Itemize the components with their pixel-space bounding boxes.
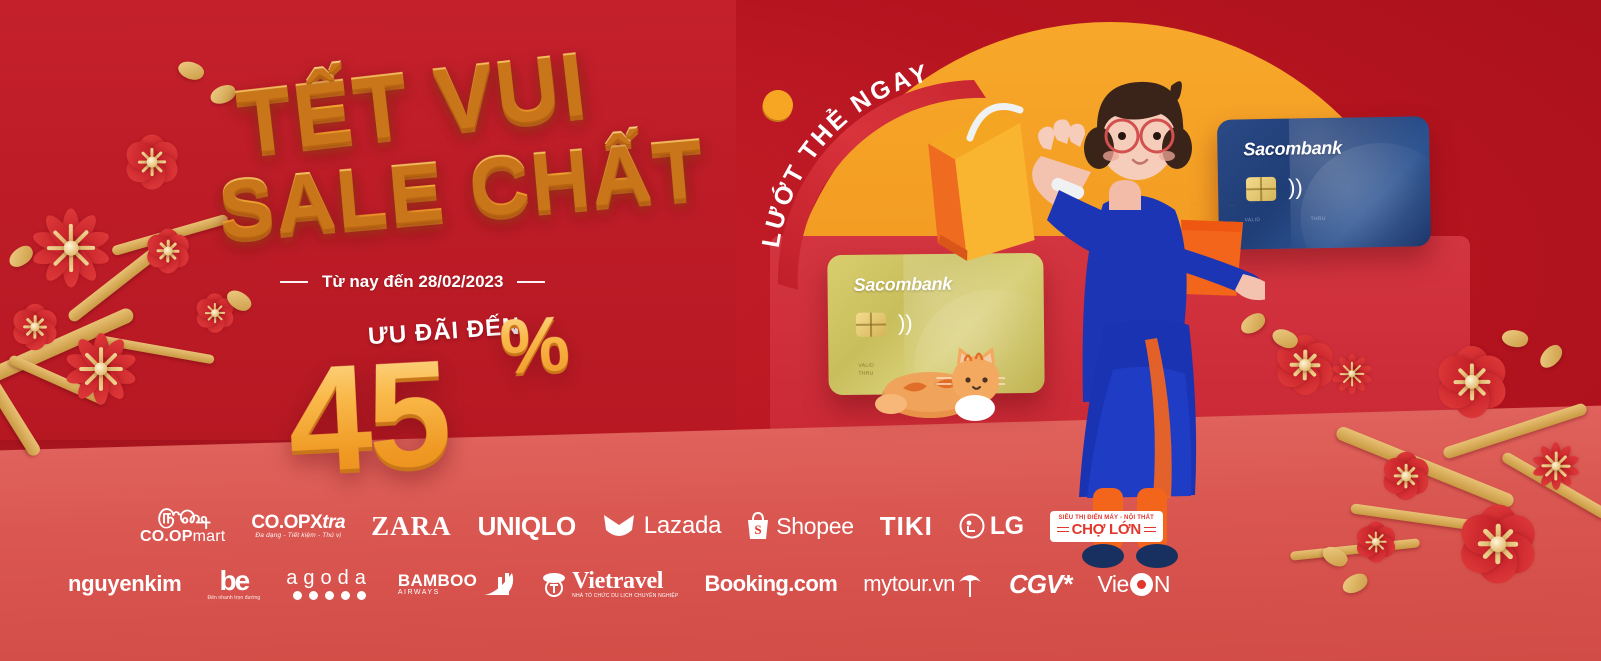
validity-row: Từ nay đến 28/02/2023	[280, 272, 530, 292]
logo-label: BAMBOO	[398, 572, 477, 589]
offer-unit: %	[497, 298, 573, 394]
validity-text: Từ nay đến 28/02/2023	[322, 272, 503, 292]
logo-bamboo-airways[interactable]: BAMBOO AIRWAYS	[398, 571, 516, 597]
logo-agoda[interactable]: agoda	[286, 568, 372, 600]
agoda-dots-icon	[293, 591, 366, 600]
blossom-center	[1552, 462, 1561, 471]
divider-left	[280, 281, 308, 283]
vieon-circle-icon	[1130, 573, 1153, 596]
logo-tagline: Đến nhanh trọn đường	[207, 596, 260, 601]
logo-label: be	[220, 567, 249, 595]
logo-label: mytour.vn	[863, 573, 955, 595]
logo-label: CGV	[1009, 571, 1062, 597]
logo-label: Vietravel	[572, 569, 663, 593]
logo-vietravel[interactable]: Vietravel NHÀ TỔ CHỨC DU LỊCH CHUYÊN NGH…	[542, 569, 678, 599]
blossom-flower	[120, 130, 184, 194]
logo-zara[interactable]: ZARA	[371, 513, 452, 540]
lazada-heart-icon	[602, 512, 636, 540]
logo-coopmart[interactable]: ௹௸ CO.OPmart	[140, 507, 225, 545]
logo-nguyenkim[interactable]: nguyenkim	[68, 573, 181, 595]
logo-shopee[interactable]: S Shopee	[747, 512, 854, 540]
blossom-flower	[1378, 448, 1434, 504]
blossom-center	[164, 247, 173, 256]
blossom-center	[147, 157, 158, 168]
blossom-flower	[8, 300, 62, 354]
blossom-flower	[1330, 352, 1374, 396]
blossom-center	[1401, 471, 1411, 481]
logo-tagline: SIÊU THỊ ĐIỆN MÁY - NỘI THẤT	[1059, 515, 1155, 521]
blossom-center	[1299, 359, 1311, 371]
offer-value: 45	[284, 326, 452, 507]
logo-tagline: NHÀ TỔ CHỨC DU LỊCH CHUYÊN NGHIỆP	[572, 594, 678, 599]
tet-promotion-banner: TẾT VUI SALE CHẤT Từ nay đến 28/02/2023 …	[0, 0, 1601, 661]
blossom-flower	[1430, 340, 1514, 424]
vietravel-mark-icon	[542, 571, 566, 597]
lg-circle-icon	[959, 513, 985, 539]
partner-logos: ௹௸ CO.OPmart CO.OPXtra Đa dạng - Tiết ki…	[0, 498, 1100, 612]
logo-suffix: *	[1062, 571, 1071, 597]
card-valid-thru: VALIDTHRU	[858, 363, 874, 378]
blossom-center	[64, 241, 79, 256]
blossom-flower	[62, 330, 140, 408]
character-illustration	[985, 70, 1265, 570]
blossom-center	[1490, 536, 1506, 552]
logo-be[interactable]: be Đến nhanh trọn đường	[207, 567, 260, 601]
logo-suffix: N	[1154, 573, 1170, 596]
logo-label: agoda	[286, 568, 372, 588]
blossom-flower	[1352, 518, 1400, 566]
logo-label: CO.OPXtra	[251, 513, 345, 532]
card-brand-name: Sacombank	[853, 274, 952, 296]
blossom-flower	[142, 225, 194, 277]
blossom-center	[211, 309, 219, 317]
logo-vieon[interactable]: Vie N	[1097, 573, 1169, 596]
logo-lg[interactable]: LG	[959, 513, 1024, 539]
logo-tiki[interactable]: TIKI	[880, 513, 933, 539]
svg-text:S: S	[755, 522, 762, 537]
divider-right	[517, 281, 545, 283]
logo-coopxtra[interactable]: CO.OPXtra Đa dạng - Tiết kiệm - Thú vị	[251, 513, 345, 540]
logo-label: CHỢ LỚN	[1057, 522, 1156, 537]
logo-lazada[interactable]: Lazada	[602, 512, 722, 540]
logo-mytour[interactable]: mytour.vn	[863, 570, 983, 598]
logo-cgv[interactable]: CGV*	[1009, 571, 1071, 597]
coopmart-mark-icon: ௹௸	[157, 507, 208, 527]
logo-tagline: Đa dạng - Tiết kiệm - Thú vị	[255, 533, 341, 540]
partner-logo-row-2: nguyenkim be Đến nhanh trọn đường agoda …	[0, 556, 1100, 612]
bamboo-leaf-icon	[482, 571, 516, 597]
logo-label: Shopee	[776, 515, 854, 538]
blossom-flower	[28, 205, 114, 291]
partner-logo-row-1: ௹௸ CO.OPmart CO.OPXtra Đa dạng - Tiết ki…	[0, 498, 1100, 554]
headline-block: TẾT VUI SALE CHẤT	[218, 40, 778, 232]
cholon-bar-icon	[1057, 527, 1069, 532]
logo-tagline: AIRWAYS	[398, 589, 440, 596]
logo-label: Vie	[1097, 573, 1128, 596]
logo-booking-com[interactable]: Booking.com	[704, 573, 837, 595]
shopee-bag-icon: S	[747, 512, 769, 540]
logo-label: LG	[990, 514, 1024, 539]
blossom-flower	[1452, 498, 1544, 590]
logo-label: Lazada	[644, 514, 722, 538]
parasol-icon	[957, 570, 983, 598]
blossom-flower	[1530, 440, 1582, 492]
cholon-bar-icon	[1144, 527, 1156, 532]
logo-uniqlo[interactable]: UNIQLO	[478, 513, 576, 539]
logo-label: CO.OPmart	[140, 529, 225, 545]
logo-cholon[interactable]: SIÊU THỊ ĐIỆN MÁY - NỘI THẤT CHỢ LỚN	[1050, 511, 1163, 542]
